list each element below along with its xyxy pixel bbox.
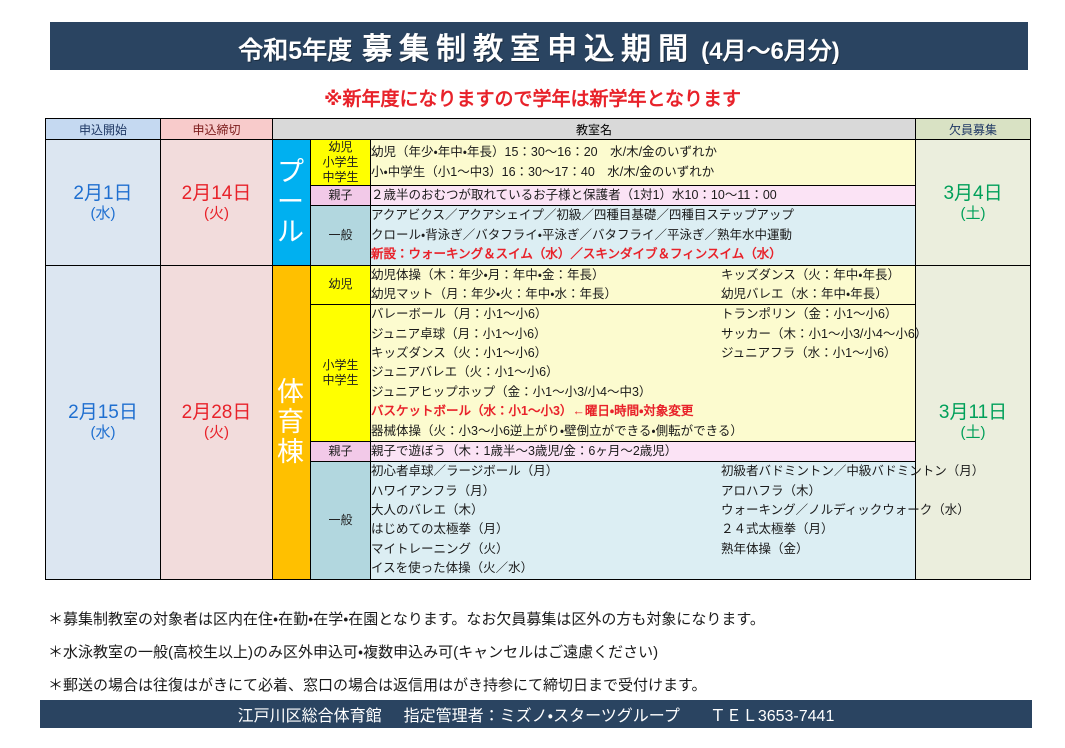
class-line: キッズダンス（火：小1～小6）	[371, 344, 721, 363]
category-gym-general: 一般	[311, 462, 371, 579]
gym-start-date-value: 2月15日	[68, 402, 138, 423]
footer-facility-name: 江戸川区総合体育館	[238, 702, 382, 726]
class-line: トランポリン（金：小1～小6）	[721, 305, 927, 324]
category-gym-students: 小学生 中学生	[311, 305, 371, 442]
category-pool-parentchild: 親子	[311, 186, 371, 206]
gym-apply-start-date: 2月15日 (水)	[46, 265, 161, 579]
table-row: 2月1日 (水) 2月14日 (火) プ ー ル 幼児 小学生 中学生 幼児（年…	[46, 140, 1031, 186]
class-line: 親子で遊ぼう（木：1歳半～3歳児/金：6ヶ月～2歳児）	[371, 442, 915, 461]
footer-telephone: ＴＥＬ3653-7441	[710, 702, 835, 726]
gym-apply-end-date: 2月28日 (火)	[161, 265, 273, 579]
class-line: 熟年体操（金）	[721, 540, 984, 559]
classes-gym-students: バレーボール（月：小1～小6） ジュニア卓球（月：小1～小6） キッズダンス（火…	[371, 305, 916, 442]
class-line: クロール・背泳ぎ／バタフライ・平泳ぎ／バタフライ／平泳ぎ／熟年水中運動	[371, 226, 915, 245]
footnotes: ＊募集制教室の対象者は区内在住・在勤・在学・在園となります。なお欠員募集は区外の…	[48, 608, 1028, 707]
classes-pool-general: アクアビクス／アクアシェイプ／初級／四種目基礎／四種目ステップアップ クロール・…	[371, 206, 916, 265]
category-line: 小学生	[311, 358, 370, 373]
category-line: 中学生	[311, 373, 370, 388]
class-line: アクアビクス／アクアシェイプ／初級／四種目基礎／四種目ステップアップ	[371, 206, 915, 225]
class-line: 小・中学生（小1～中3）16：30～17：40 水/木/金のいずれか	[371, 163, 915, 182]
pool-vacancy-date: 3月4日 (土)	[916, 140, 1031, 266]
title-era: 令和5年度	[238, 37, 352, 65]
pool-end-date-value: 2月14日	[182, 183, 252, 204]
category-line: 幼児	[311, 140, 370, 155]
category-pool-kids: 幼児 小学生 中学生	[311, 140, 371, 186]
gym-end-date-dow: (火)	[161, 424, 272, 441]
category-line: 中学生	[311, 170, 370, 185]
pool-end-date-dow: (火)	[161, 205, 272, 222]
class-line: 幼児体操（木：年少・月：年中・金：年長）	[371, 266, 721, 285]
class-line: ジュニアフラ（水：小1～小6）	[721, 344, 927, 363]
classes-pool-kids: 幼児（年少・年中・年長）15：30～16：20 水/木/金のいずれか 小・中学生…	[371, 140, 916, 186]
gym-vacancy-date-dow: (土)	[916, 424, 1030, 441]
classes-gym-general: 初心者卓球／ラージボール（月） ハワイアンフラ（月） 大人のバレエ（木） はじめ…	[371, 462, 916, 579]
gym-end-date-value: 2月28日	[182, 402, 252, 423]
class-line: 初心者卓球／ラージボール（月）	[371, 462, 721, 481]
facility-label-gym: 体 育 棟	[273, 265, 311, 579]
table-header-row: 申込開始 申込締切 教室名 欠員募集	[46, 119, 1031, 140]
class-line: イスを使った体操（火／水）	[371, 559, 721, 578]
category-gym-preschool: 幼児	[311, 265, 371, 305]
classes-gym-parentchild: 親子で遊ぼう（木：1歳半～3歳児/金：6ヶ月～2歳児）	[371, 441, 916, 461]
title-main: 募集制教室申込期間	[362, 33, 695, 66]
class-line: 器械体操（火：小3～小6逆上がり・壁倒立ができる・側転ができる）	[371, 422, 915, 441]
class-line: ジュニアバレエ（火：小1～小6）	[371, 363, 915, 382]
pool-apply-start-date: 2月1日 (水)	[46, 140, 161, 266]
class-schedule-table: 申込開始 申込締切 教室名 欠員募集 2月1日 (水) 2月14日 (火) プ …	[45, 118, 1031, 580]
pool-start-date-dow: (水)	[46, 205, 160, 222]
page-title: 令和5年度募集制教室申込期間(4月～6月分)	[238, 24, 840, 68]
facility-pool-char-3: ル	[273, 217, 310, 247]
class-line: 大人のバレエ（木）	[371, 501, 721, 520]
class-line: マイトレーニング（火）	[371, 540, 721, 559]
header-apply-start: 申込開始	[46, 119, 161, 140]
facility-gym-char-2: 育	[273, 407, 310, 437]
footnote-line: ＊郵送の場合は往復はがきにて必着、窓口の場合は返信用はがき持参にて締切日まで受付…	[48, 674, 1028, 695]
class-line: 幼児バレエ（水：年中・年長）	[721, 285, 915, 304]
class-line: アロハフラ（木）	[721, 482, 984, 501]
pool-apply-end-date: 2月14日 (火)	[161, 140, 273, 266]
class-line-new-highlight: 新設：ウォーキング＆スイム（水）／スキンダイブ＆フィンスイム（水）	[371, 245, 915, 264]
classes-pool-parentchild: ２歳半のおむつが取れているお子様と保護者（1対1）水10：10～11：00	[371, 186, 916, 206]
gym-start-date-dow: (水)	[46, 424, 160, 441]
class-line: ジュニア卓球（月：小1～小6）	[371, 325, 721, 344]
table-row: 2月15日 (水) 2月28日 (火) 体 育 棟 幼児 幼児体操（木：年少・月…	[46, 265, 1031, 305]
category-gym-parentchild: 親子	[311, 441, 371, 461]
footnote-line: ＊募集制教室の対象者は区内在住・在勤・在学・在園となります。なお欠員募集は区外の…	[48, 608, 1028, 629]
category-pool-general: 一般	[311, 206, 371, 265]
class-line: キッズダンス（火：年中・年長）	[721, 266, 915, 285]
class-line: バレーボール（月：小1～小6）	[371, 305, 721, 324]
page-title-banner: 令和5年度募集制教室申込期間(4月～6月分)	[50, 22, 1028, 70]
facility-gym-char-1: 体	[273, 377, 310, 407]
class-line: ジュニアヒップホップ（金：小1～小3/小4～中3）	[371, 383, 915, 402]
header-class-name: 教室名	[273, 119, 916, 140]
footer-bar: 江戸川区総合体育館 指定管理者：ミズノ・スターツグループ ＴＥＬ3653-744…	[40, 700, 1032, 728]
class-line: ２４式太極拳（月）	[721, 520, 984, 539]
class-line: 幼児マット（月：年少・火：年中・水：年長）	[371, 285, 721, 304]
subtitle-notice: ※新年度になりますので学年は新学年となります	[0, 84, 1065, 111]
title-period-range: (4月～6月分)	[701, 38, 840, 65]
facility-label-pool: プ ー ル	[273, 140, 311, 266]
class-line: 初級者バドミントン／中級バドミントン（月）	[721, 462, 984, 481]
pool-vacancy-date-dow: (土)	[916, 205, 1030, 222]
footnote-line: ＊水泳教室の一般(高校生以上)のみ区外申込可・複数申込み可(キャンセルはご遠慮く…	[48, 641, 1028, 662]
class-line: 幼児（年少・年中・年長）15：30～16：20 水/木/金のいずれか	[371, 143, 915, 162]
facility-pool-char-1: プ	[273, 157, 310, 187]
footer-manager: 指定管理者：ミズノ・スターツグループ	[404, 702, 680, 726]
class-line: ウォーキング／ノルディックウォーク（水）	[721, 501, 984, 520]
category-line: 小学生	[311, 155, 370, 170]
facility-gym-char-3: 棟	[273, 437, 310, 467]
class-line: ハワイアンフラ（月）	[371, 482, 721, 501]
pool-vacancy-date-value: 3月4日	[943, 183, 1002, 204]
class-line: サッカー（木：小1～小3/小4～小6）	[721, 325, 927, 344]
facility-pool-char-2: ー	[273, 187, 310, 217]
class-line: ２歳半のおむつが取れているお子様と保護者（1対1）水10：10～11：00	[371, 186, 915, 205]
class-line-changed-highlight: バスケットボール（水：小1～小3）←曜日・時間・対象変更	[371, 402, 915, 421]
class-line: はじめての太極拳（月）	[371, 520, 721, 539]
classes-gym-preschool: 幼児体操（木：年少・月：年中・金：年長） 幼児マット（月：年少・火：年中・水：年…	[371, 265, 916, 305]
header-vacancy: 欠員募集	[916, 119, 1031, 140]
pool-start-date-value: 2月1日	[73, 183, 132, 204]
header-apply-end: 申込締切	[161, 119, 273, 140]
gym-vacancy-date-value: 3月11日	[939, 402, 1007, 423]
